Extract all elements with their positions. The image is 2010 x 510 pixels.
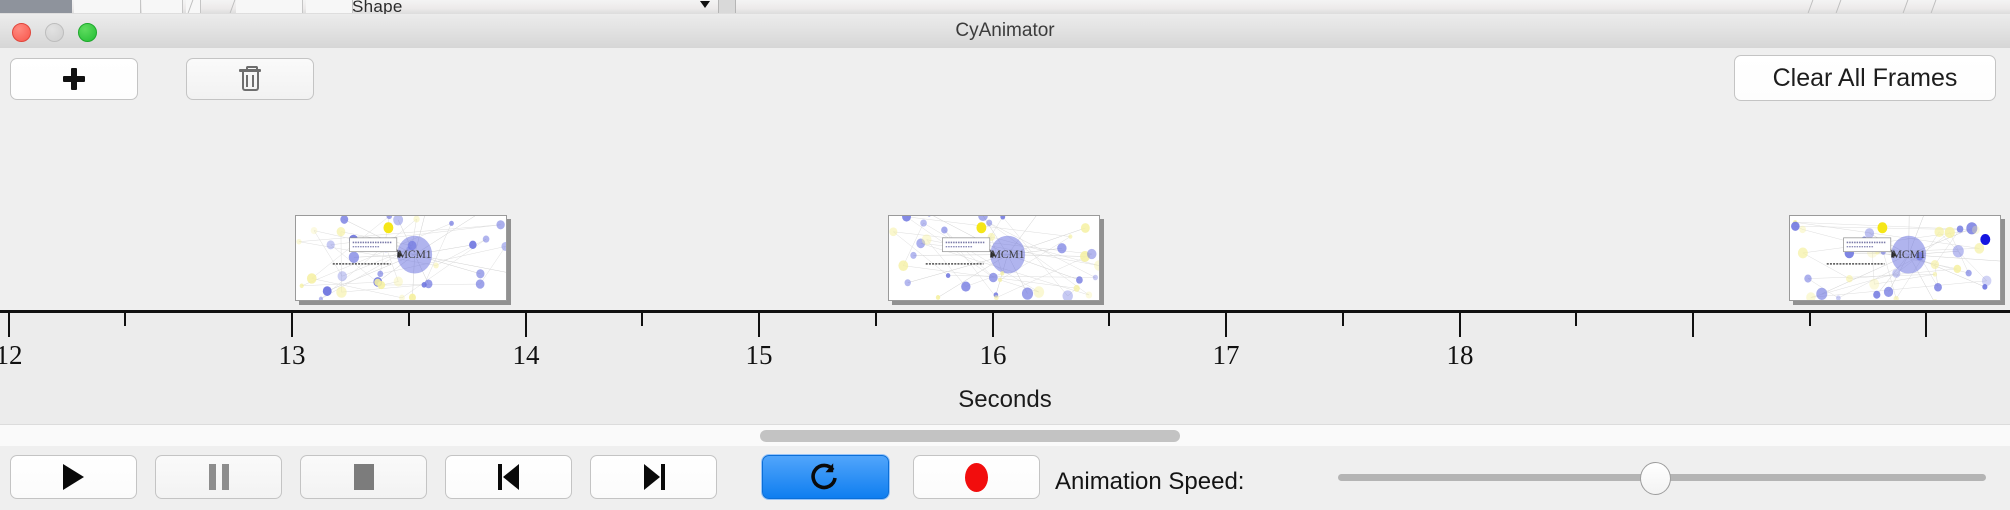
ruler-tick-label: 12 xyxy=(0,340,23,371)
clear-all-frames-button[interactable]: Clear All Frames xyxy=(1734,55,1996,101)
ruler-tick xyxy=(875,313,877,326)
delete-frame-button[interactable] xyxy=(186,58,314,100)
ruler-tick-label: 13 xyxy=(279,340,306,371)
background-divider xyxy=(230,0,236,13)
ruler-tick xyxy=(1692,313,1694,337)
stop-icon xyxy=(354,464,374,490)
background-cell xyxy=(74,0,141,13)
playback-control-bar: Animation Speed: xyxy=(0,446,2010,510)
background-notch xyxy=(718,0,736,13)
keyframe-thumbnail-3[interactable]: MCM1 xyxy=(1789,215,2001,301)
ruler-tick-label: 17 xyxy=(1213,340,1240,371)
play-button[interactable] xyxy=(10,455,137,499)
keyframe-thumbnail-1[interactable]: MCM1 xyxy=(295,215,507,301)
background-divider xyxy=(1836,0,1842,13)
ruler-tick xyxy=(1108,313,1110,326)
record-button[interactable] xyxy=(913,455,1040,499)
ruler-tick-label: 15 xyxy=(746,340,773,371)
ruler-tick xyxy=(291,313,293,337)
play-icon xyxy=(63,464,84,490)
trash-icon xyxy=(239,66,261,92)
plus-icon xyxy=(62,67,86,91)
loop-button[interactable] xyxy=(762,455,889,499)
scrollbar-thumb[interactable] xyxy=(760,430,1180,442)
skip-start-button[interactable] xyxy=(445,455,572,499)
ruler-tick xyxy=(992,313,994,337)
timeline-canvas[interactable]: MCM1 MCM1 xyxy=(0,110,2010,310)
background-caret-icon xyxy=(700,1,710,8)
ruler-tick-label: 14 xyxy=(513,340,540,371)
ruler-tick xyxy=(1342,313,1344,326)
ruler-tick-label: 18 xyxy=(1447,340,1474,371)
svg-text:MCM1: MCM1 xyxy=(1892,249,1926,261)
svg-text:MCM1: MCM1 xyxy=(398,249,432,261)
background-cell xyxy=(142,0,183,13)
svg-text:MCM1: MCM1 xyxy=(991,249,1025,261)
ruler-axis-line xyxy=(0,310,2010,313)
ruler-tick xyxy=(1809,313,1811,326)
pause-button[interactable] xyxy=(155,455,282,499)
axis-title: Seconds xyxy=(0,386,2010,414)
add-frame-button[interactable] xyxy=(10,58,138,100)
ruler-tick xyxy=(1925,313,1927,337)
skip-back-icon xyxy=(496,464,522,490)
skip-forward-icon xyxy=(641,464,667,490)
ruler-tick xyxy=(758,313,760,337)
animation-speed-slider-thumb[interactable] xyxy=(1640,462,1671,495)
keyframe-thumbnail-2[interactable]: MCM1 xyxy=(888,215,1100,301)
ruler-tick-label: 16 xyxy=(980,340,1007,371)
horizontal-scrollbar[interactable] xyxy=(0,424,2010,447)
ruler-tick xyxy=(641,313,643,326)
record-icon xyxy=(965,463,988,492)
timeline-ruler: 12131415161718 Seconds xyxy=(0,310,2010,425)
background-cell xyxy=(236,0,303,13)
background-cell xyxy=(306,0,353,13)
ruler-tick xyxy=(1225,313,1227,337)
cyanimator-window: Shape CyAnimator Clear All Frames xyxy=(0,0,2010,510)
ruler-tick xyxy=(8,313,10,337)
window-title: CyAnimator xyxy=(0,14,2010,48)
loop-icon xyxy=(811,461,841,493)
ruler-tick xyxy=(525,313,527,337)
ruler-tick xyxy=(124,313,126,326)
background-divider xyxy=(1931,0,1937,13)
background-divider xyxy=(1903,0,1909,13)
pause-icon xyxy=(209,464,229,490)
skip-end-button[interactable] xyxy=(590,455,717,499)
toolbar: Clear All Frames xyxy=(0,48,2010,111)
background-divider xyxy=(1808,0,1814,13)
ruler-tick xyxy=(408,313,410,326)
background-shape-label: Shape xyxy=(352,0,403,15)
ruler-tick xyxy=(1575,313,1577,326)
stop-button[interactable] xyxy=(300,455,427,499)
animation-speed-label: Animation Speed: xyxy=(1055,468,1244,496)
title-bar[interactable]: CyAnimator xyxy=(0,14,2010,49)
background-window-strip: Shape xyxy=(0,0,2010,15)
background-tab-selected xyxy=(0,0,72,13)
ruler-tick xyxy=(1459,313,1461,337)
